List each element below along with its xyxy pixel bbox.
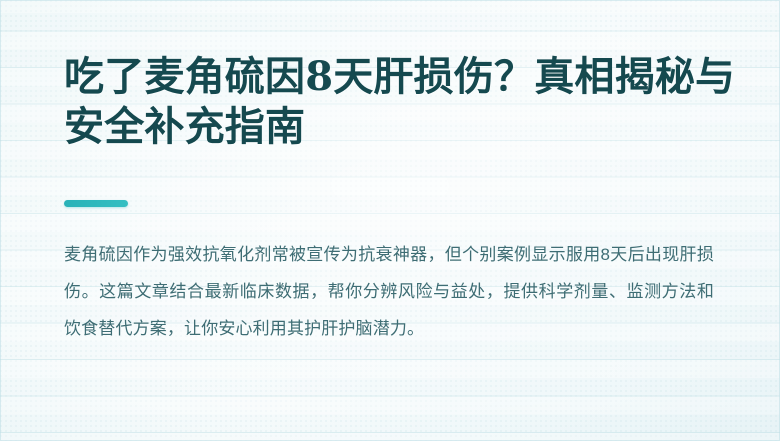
accent-divider: [64, 200, 128, 207]
page-title: 吃了麦角硫因8天肝损伤？真相揭秘与安全补充指南: [64, 52, 736, 152]
article-cover-card: 吃了麦角硫因8天肝损伤？真相揭秘与安全补充指南 麦角硫因作为强效抗氧化剂常被宣传…: [0, 0, 780, 441]
card-content: 吃了麦角硫因8天肝损伤？真相揭秘与安全补充指南 麦角硫因作为强效抗氧化剂常被宣传…: [64, 0, 736, 441]
article-summary: 麦角硫因作为强效抗氧化剂常被宣传为抗衰神器，但个别案例显示服用8天后出现肝损伤。…: [64, 236, 714, 347]
